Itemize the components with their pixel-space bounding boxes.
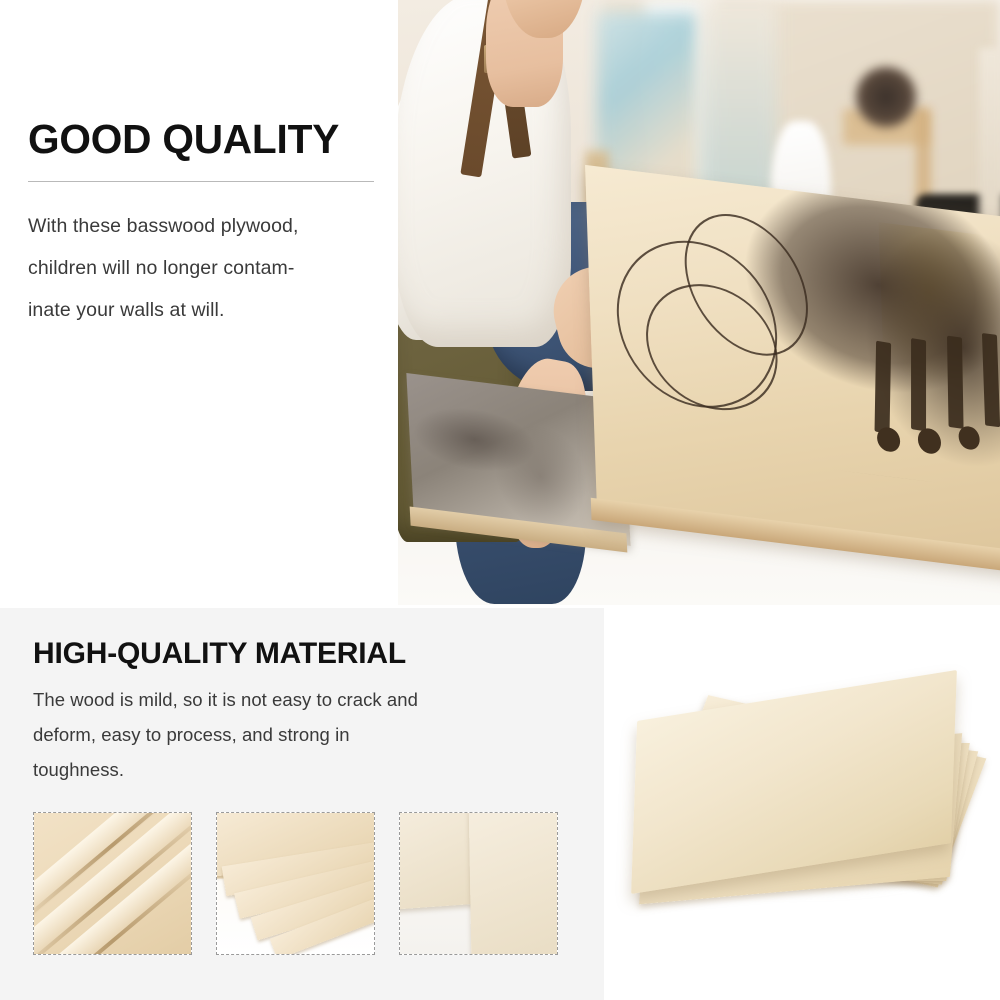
artwork-stripe-4 (982, 333, 1000, 426)
top-section: GOOD QUALITY With these basswood plywood… (0, 0, 1000, 605)
artwork-stripe-2 (911, 338, 926, 432)
page-title: GOOD QUALITY (28, 118, 373, 161)
section-description-line-3: toughness. (33, 752, 503, 787)
top-description-line-2: children will no longer contam- (28, 247, 376, 289)
thumb-diagonal-plywood-edges[interactable] (33, 812, 192, 955)
artwork-stripe-3 (946, 335, 962, 429)
bottom-right-panel (604, 608, 1000, 1000)
section-description-line-1: The wood is mild, so it is not easy to c… (33, 682, 503, 717)
section-description: The wood is mild, so it is not easy to c… (33, 682, 503, 787)
studio-dark-object (856, 67, 916, 128)
thumb3-board-right (469, 812, 558, 955)
fanned-plywood-sheet-stack (604, 608, 1000, 1000)
thumbnail-row (33, 812, 558, 955)
section-description-line-2: deform, easy to process, and strong in (33, 717, 503, 752)
top-description-line-3: inate your walls at will. (28, 289, 376, 331)
thumb-fanned-plywood-corners[interactable] (216, 812, 375, 955)
top-text-block: GOOD QUALITY With these basswood plywood… (28, 118, 376, 331)
title-divider (28, 181, 374, 182)
bottom-left-panel: HIGH-QUALITY MATERIAL The wood is mild, … (0, 608, 604, 1000)
artwork-stripe-1 (874, 341, 890, 435)
bottom-section: HIGH-QUALITY MATERIAL The wood is mild, … (0, 608, 1000, 1000)
thumb-two-plywood-boards[interactable] (399, 812, 558, 955)
section-title: HIGH-QUALITY MATERIAL (33, 637, 406, 671)
thumb3-board-left (399, 812, 476, 910)
product-feature-page: GOOD QUALITY With these basswood plywood… (0, 0, 1000, 1000)
hero-photo-artist-painting (398, 0, 1000, 605)
top-description: With these basswood plywood, children wi… (28, 205, 376, 331)
top-description-line-1: With these basswood plywood, (28, 205, 376, 247)
